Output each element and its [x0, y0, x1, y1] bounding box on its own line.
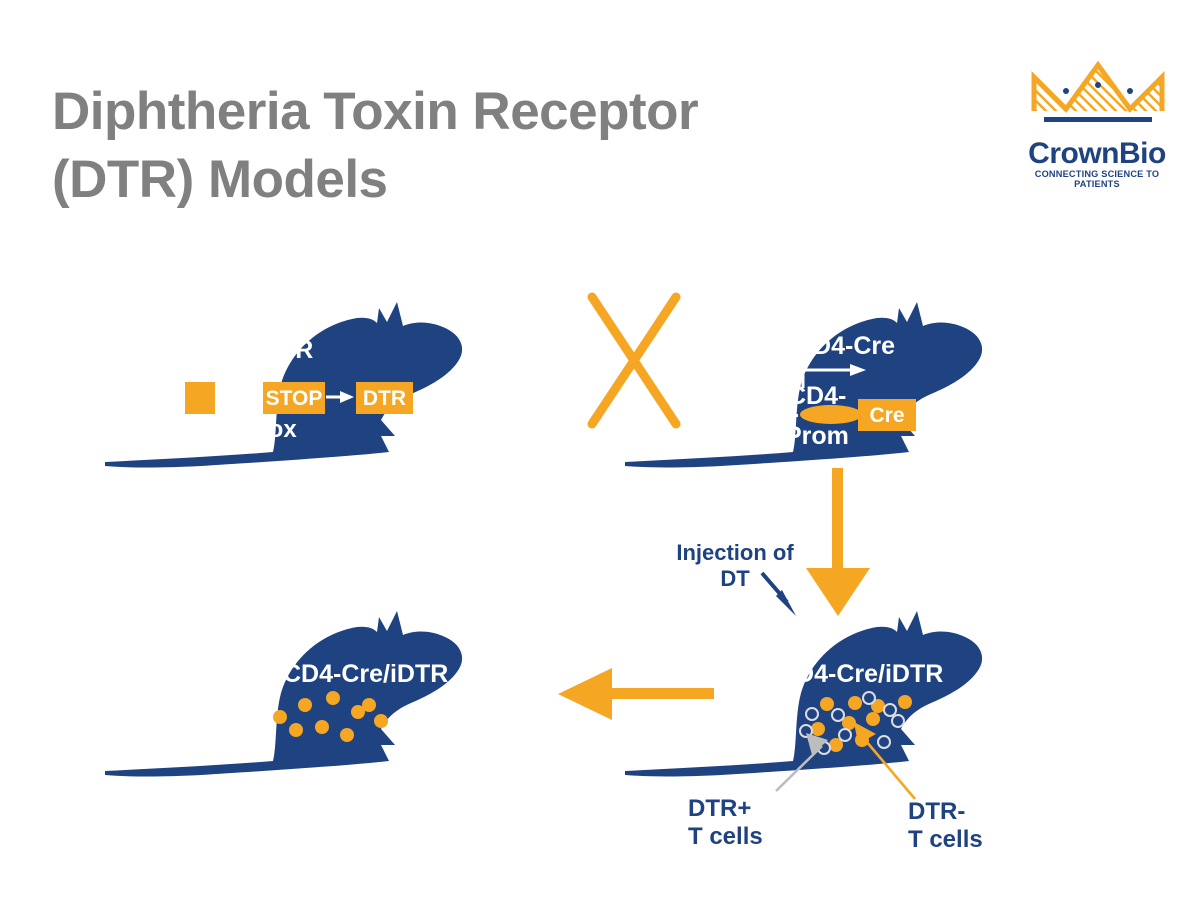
cell-dtr-positive [799, 724, 813, 738]
mouse-label-cd4cre-idtr-pre: CD4-Cre/iDTR [778, 660, 943, 689]
mouse-silhouette-icon [625, 605, 985, 781]
idtr-arrow-1-icon [219, 388, 261, 406]
cell-dtr-positive [838, 728, 852, 742]
idtr-stop-box: STOP [263, 382, 325, 414]
cd4cre-cre-box: Cre [858, 399, 916, 431]
mouse-cd4cre-idtr-post-dt: CD4-Cre/iDTR [105, 605, 465, 781]
mouse-silhouette-icon [105, 605, 465, 781]
mouse-cd4cre: CD4-Cre CD4- Cre Prom [625, 296, 985, 472]
cell-dtr-positive [817, 741, 831, 755]
mouse-label-cd4cre-idtr-post: CD4-Cre/iDTR [283, 660, 448, 689]
cell-dtr-negative [315, 720, 329, 734]
logo-wordmark: CrownBio [1012, 137, 1182, 171]
injection-of-dt-label: Injection of DT [665, 540, 805, 592]
cell-dtr-negative [340, 728, 354, 742]
diagram-canvas: Diphtheria Toxin Receptor (DTR) Models [0, 0, 1200, 900]
dtr-negative-label: DTR- T cells [908, 798, 983, 855]
cell-dtr-negative [326, 691, 340, 705]
cell-dtr-positive [891, 714, 905, 728]
cell-dtr-positive [805, 707, 819, 721]
cell-dtr-positive [831, 708, 845, 722]
cell-dtr-negative [374, 714, 388, 728]
cell-dtr-negative [289, 723, 303, 737]
idtr-dtr-box: DTR [356, 382, 413, 414]
idtr-construct-left-dash [167, 397, 179, 400]
cell-dtr-negative [855, 733, 869, 747]
idtr-gene-label: iDTR [255, 336, 313, 365]
cd4cre-gene-label: CD4-Cre [795, 332, 895, 361]
arrow-down-icon [806, 468, 870, 616]
cell-dtr-negative [898, 695, 912, 709]
cd4cre-construct-right-dash [924, 414, 946, 417]
cell-dtr-negative [298, 698, 312, 712]
idtr-arrow-2-icon [326, 388, 354, 406]
logo-tagline: CONNECTING SCIENCE TO PATIENTS [1012, 169, 1182, 189]
page-title: Diphtheria Toxin Receptor (DTR) Models [52, 78, 852, 214]
cell-dtr-negative [820, 697, 834, 711]
crown-icon [1030, 55, 1166, 127]
mouse-idtr: iDTR STOP DTR lox lox [105, 296, 465, 472]
cell-dtr-positive [877, 735, 891, 749]
idtr-lox-label-right: lox [262, 416, 297, 444]
idtr-lox-label-left: lox [183, 416, 218, 444]
dtr-positive-label: DTR+ T cells [688, 795, 763, 852]
cell-dtr-positive [862, 691, 876, 705]
idtr-lox-site-left [185, 382, 215, 414]
cell-dtr-negative [273, 710, 287, 724]
crownbio-logo: CrownBio CONNECTING SCIENCE TO PATIENTS [1012, 55, 1182, 185]
cell-dtr-negative [866, 712, 880, 726]
cell-dtr-negative [811, 722, 825, 736]
cd4cre-construct-left-dash [780, 414, 798, 417]
cell-dtr-negative [362, 698, 376, 712]
mouse-cd4cre-idtr-pre-dt: CD4-Cre/iDTR [625, 605, 985, 781]
cd4cre-promoter-label-bottom: Prom [785, 422, 849, 451]
cell-dtr-negative [848, 696, 862, 710]
